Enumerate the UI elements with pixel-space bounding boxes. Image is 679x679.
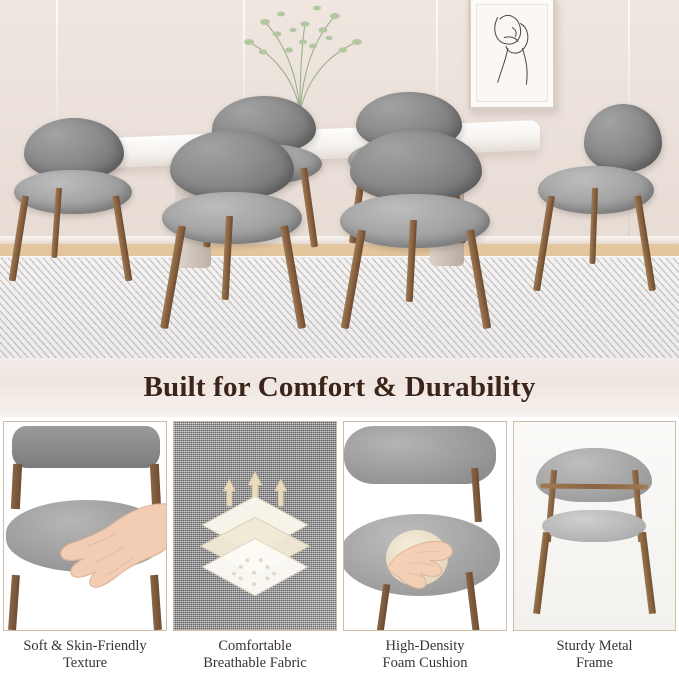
chair-frame-rail — [540, 484, 648, 490]
chair-leg — [533, 195, 555, 291]
caption-3: High-Density Foam Cushion — [340, 635, 510, 679]
wall-art-frame — [468, 0, 556, 110]
caption-4: Sturdy Metal Frame — [510, 635, 679, 679]
caption-1: Soft & Skin-Friendly Texture — [0, 635, 170, 679]
chair-backrest — [350, 130, 482, 202]
fabric-layers — [201, 496, 310, 595]
caption-2-line2: Breathable Fabric — [170, 655, 340, 672]
chair-leg — [466, 229, 491, 329]
hero-lifestyle-image — [0, 0, 679, 358]
hand-icon — [344, 422, 506, 630]
metal-frame-image — [513, 421, 676, 631]
caption-1-line1: Soft & Skin-Friendly — [23, 638, 146, 654]
feature-panel-3[interactable] — [340, 417, 510, 635]
dining-chair — [162, 130, 302, 330]
dining-chair — [534, 104, 662, 294]
breathable-fabric-image — [173, 421, 337, 631]
chair-leg — [634, 195, 656, 291]
caption-row: Soft & Skin-Friendly Texture Comfortable… — [0, 635, 679, 679]
caption-2: Comfortable Breathable Fabric — [170, 635, 340, 679]
caption-4-line1: Sturdy Metal — [556, 638, 632, 654]
line-art-portrait-icon — [479, 7, 545, 99]
chair-backrest — [584, 104, 662, 172]
caption-3-line2: Foam Cushion — [340, 655, 510, 672]
caption-2-line1: Comfortable — [218, 638, 291, 654]
hand-icon — [4, 422, 166, 630]
feature-panel-2[interactable] — [170, 417, 340, 635]
dining-chair — [8, 118, 133, 298]
chair-leg — [589, 188, 598, 264]
product-feature-image: Built for Comfort & Durability — [0, 0, 679, 679]
feature-panel-1[interactable] — [0, 417, 170, 635]
chair-leg — [160, 225, 186, 329]
feature-panel-grid — [0, 417, 679, 635]
foam-cushion-image — [343, 421, 507, 631]
breathability-diagram-icon — [174, 422, 336, 630]
soft-texture-image — [3, 421, 167, 631]
headline-text: Built for Comfort & Durability — [143, 371, 535, 404]
caption-1-line2: Texture — [0, 655, 170, 672]
chair-leg — [639, 532, 656, 614]
chair-leg — [300, 168, 318, 248]
chair-leg — [112, 195, 132, 281]
caption-3-line1: High-Density — [386, 638, 465, 654]
caption-4-line2: Frame — [510, 655, 679, 672]
chair-seat — [542, 510, 646, 542]
chair-leg — [341, 229, 366, 329]
dining-chair — [340, 130, 490, 330]
chair-leg — [533, 532, 550, 614]
headline-banner: Built for Comfort & Durability — [0, 358, 679, 417]
chair-backrest — [170, 130, 294, 200]
chair-leg — [9, 195, 29, 281]
feature-panel-4[interactable] — [510, 417, 679, 635]
